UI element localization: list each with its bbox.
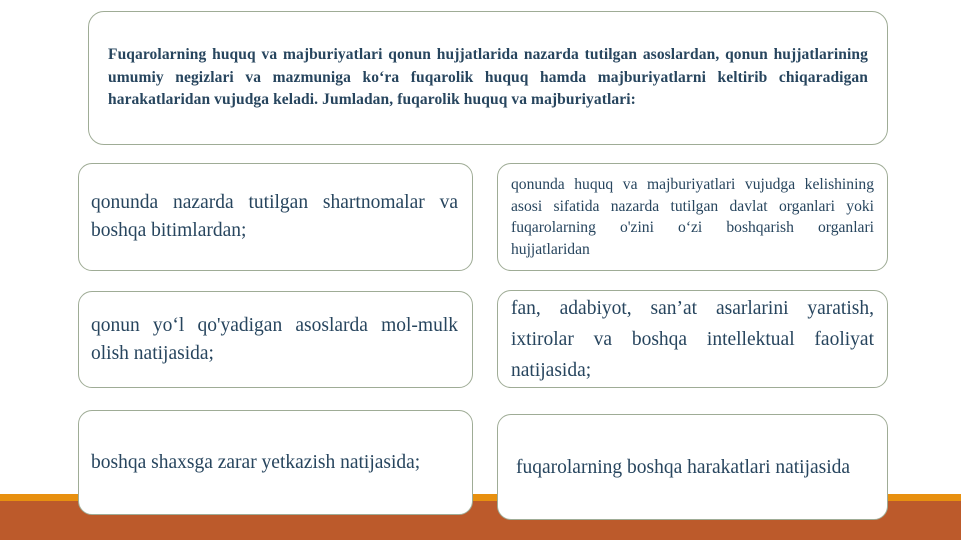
item-box-left-2: qonun yo‘l qo'yadigan asoslarda mol-mulk… [78,291,473,388]
item-box-right-2: fan, adabiyot, san’at asarlarini yaratis… [497,290,888,388]
item-box-left-1: qonunda nazarda tutilgan shartnomalar va… [78,163,473,271]
item-box-left-3: boshqa shaxsga zarar yetkazish natijasid… [78,410,473,515]
item-text-right-2: fan, adabiyot, san’at asarlarini yaratis… [511,293,874,386]
intro-text-box: Fuqarolarning huquq va majburiyatlari qo… [88,11,888,145]
item-text-left-3: boshqa shaxsga zarar yetkazish natijasid… [91,449,458,477]
item-text-left-2: qonun yo‘l qo'yadigan asoslarda mol-mulk… [91,312,458,368]
item-box-right-3: fuqarolarning boshqa harakatlari natijas… [497,414,888,520]
item-text-right-1: qonunda huquq va majburiyatlari vujudga … [511,174,874,260]
item-box-right-1: qonunda huquq va majburiyatlari vujudga … [497,163,888,271]
item-text-right-3: fuqarolarning boshqa harakatlari natijas… [511,453,874,482]
slide: Fuqarolarning huquq va majburiyatlari qo… [0,0,961,540]
intro-paragraph: Fuqarolarning huquq va majburiyatlari qo… [108,44,868,112]
item-text-left-1: qonunda nazarda tutilgan shartnomalar va… [91,189,458,245]
